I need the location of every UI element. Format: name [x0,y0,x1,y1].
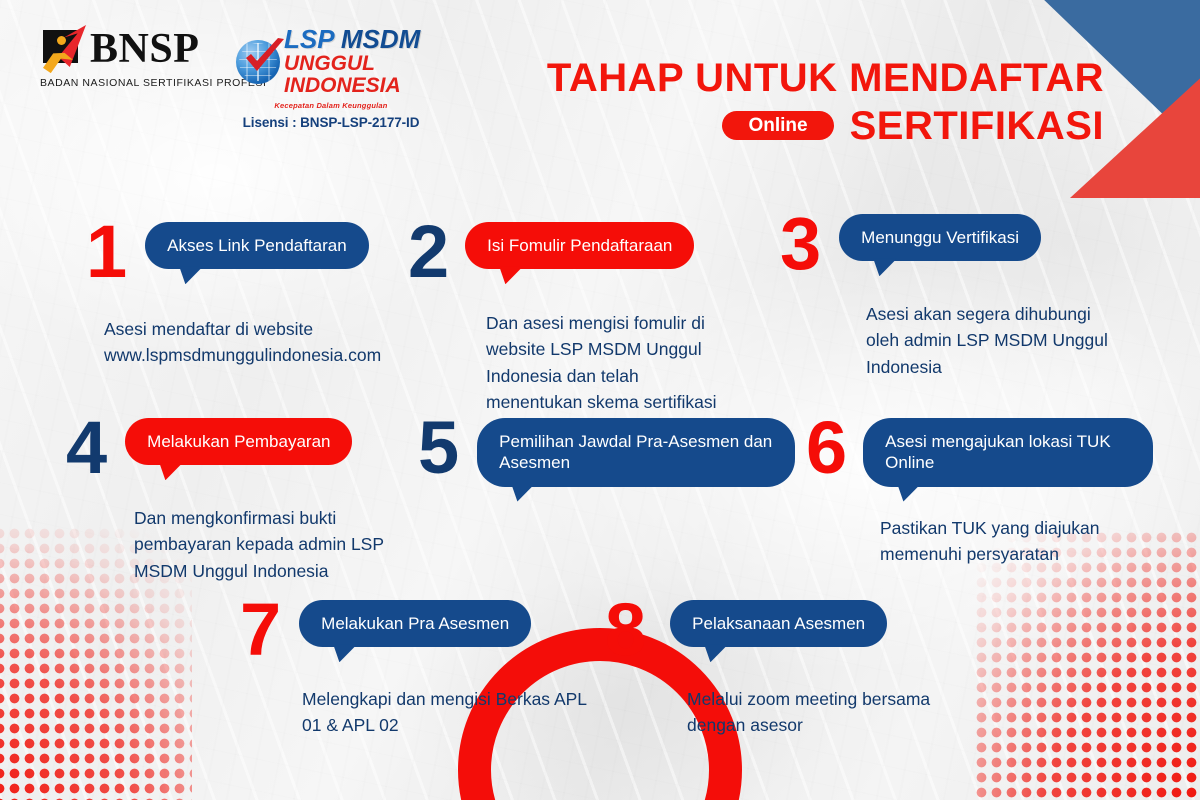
step-item-4: 4 Melakukan Pembayaran Dan mengkonfirmas… [66,418,416,584]
bubble-tail-icon [511,484,535,502]
online-badge: Online [722,111,833,140]
step-description: Melalui zoom meeting bersama dengan ases… [687,686,987,739]
bnsp-wordmark: BNSP [90,28,199,70]
lsp-license: Lisensi : BNSP-LSP-2177-ID [236,115,426,130]
step-item-2: 2 Isi Fomulir Pendaftaraan Dan asesi men… [408,222,728,416]
bnsp-figure-icon [40,26,86,72]
title-line-2: SERTIFIKASI [850,106,1104,146]
step-number: 3 [780,214,821,275]
lsp-tagline: Kecepatan Dalam Keunggulan [236,101,426,110]
step-item-7: 7 Melakukan Pra Asesmen Melengkapi dan m… [240,600,590,739]
step-bubble-label: Isi Fomulir Pendaftaraan [487,236,672,255]
bubble-tail-icon [704,644,728,662]
step-bubble-label: Melakukan Pra Asesmen [321,614,509,633]
step-description: Dan asesi mengisi fomulir di website LSP… [486,310,736,416]
bubble-tail-icon [873,258,897,276]
step-bubble-label: Akses Link Pendaftaran [167,236,347,255]
step-item-6: 6 Asesi mengajukan lokasi TUK Online Pas… [806,418,1156,568]
step-bubble-label: Melakukan Pembayaran [147,432,330,451]
step-number: 5 [418,418,459,479]
title-line-1: TAHAP UNTUK MENDAFTAR [547,58,1104,99]
bnsp-subtitle: BADAN NASIONAL SERTIFIKASI PROFESI [40,77,218,89]
lsp-msdm-logo: LSP MSDM UNGGUL INDONESIA Kecepatan Dala… [236,24,426,130]
poster-title: TAHAP UNTUK MENDAFTAR Online SERTIFIKASI [547,58,1104,146]
step-item-5: 5 Pemilihan Jawdal Pra-Asesmen dan Asesm… [418,418,808,505]
step-bubble-label: Asesi mengajukan lokasi TUK Online [885,432,1111,472]
step-bubble: Akses Link Pendaftaran [145,222,369,269]
step-bubble: Menunggu Vertifikasi [839,214,1041,261]
step-number: 2 [408,222,449,283]
step-bubble: Isi Fomulir Pendaftaraan [465,222,694,269]
bubble-tail-icon [179,266,203,284]
lsp-title: LSP MSDM [284,26,426,52]
step-item-8: 8 Pelaksanaan Asesmen Melalui zoom meeti… [605,600,955,739]
step-item-1: 1 Akses Link Pendaftaran Asesi mendaftar… [86,222,436,369]
step-description: Pastikan TUK yang diajukan memenuhi pers… [880,515,1150,568]
step-bubble-label: Pelaksanaan Asesmen [692,614,865,633]
poster-header: BNSP BADAN NASIONAL SERTIFIKASI PROFESI … [0,0,1200,160]
step-bubble-label: Pemilihan Jawdal Pra-Asesmen dan Asesmen [499,432,772,472]
step-item-3: 3 Menunggu Vertifikasi Asesi akan segera… [780,214,1110,380]
bubble-tail-icon [897,484,921,502]
step-bubble: Pelaksanaan Asesmen [670,600,887,647]
step-number: 4 [66,418,107,479]
bnsp-logo: BNSP BADAN NASIONAL SERTIFIKASI PROFESI [40,24,218,89]
step-number: 6 [806,418,847,479]
step-bubble-label: Menunggu Vertifikasi [861,228,1019,247]
bubble-tail-icon [333,644,357,662]
infographic-poster: BNSP BADAN NASIONAL SERTIFIKASI PROFESI … [0,0,1200,800]
step-description: Melengkapi dan mengisi Berkas APL 01 & A… [302,686,602,739]
step-description: Dan mengkonfirmasi bukti pembayaran kepa… [134,505,434,585]
logo-group: BNSP BADAN NASIONAL SERTIFIKASI PROFESI … [40,24,426,130]
step-description: Asesi mendaftar di website www.lspmsdmun… [104,316,434,369]
check-mark-icon [244,38,286,78]
bubble-tail-icon [159,462,183,480]
step-number: 8 [605,600,646,661]
step-bubble: Melakukan Pra Asesmen [299,600,531,647]
step-number: 1 [86,222,127,283]
lsp-subtitle: UNGGUL INDONESIA [284,53,426,97]
step-number: 7 [240,600,281,661]
step-bubble: Pemilihan Jawdal Pra-Asesmen dan Asesmen [477,418,795,487]
bubble-tail-icon [499,266,523,284]
step-bubble: Asesi mengajukan lokasi TUK Online [863,418,1153,487]
step-description: Asesi akan segera dihubungi oleh admin L… [866,301,1116,381]
step-bubble: Melakukan Pembayaran [125,418,352,465]
